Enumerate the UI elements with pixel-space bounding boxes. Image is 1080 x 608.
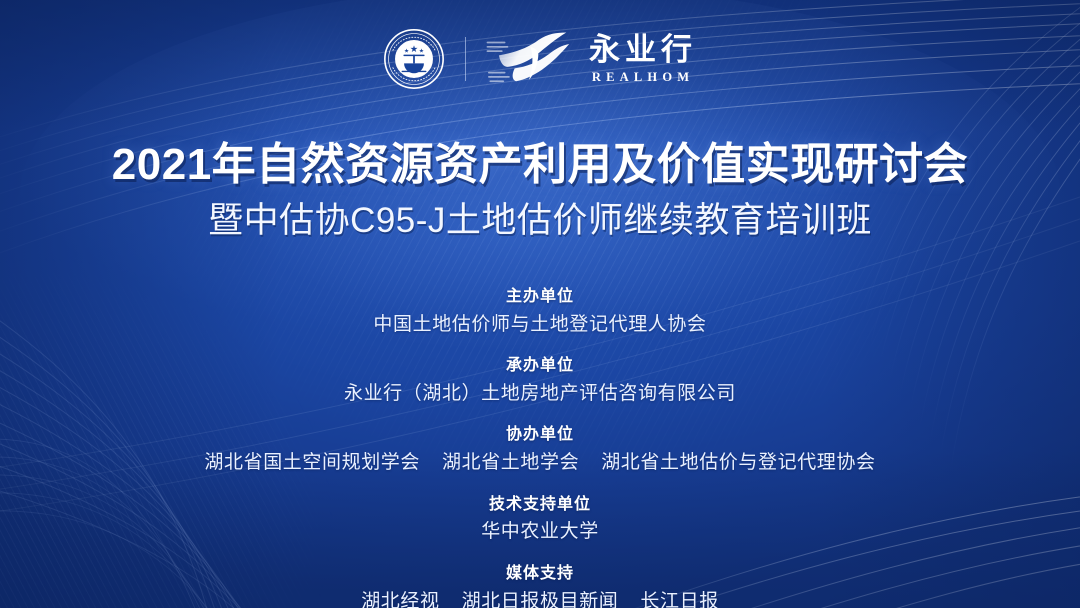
title-block: 2021年自然资源资产利用及价值实现研讨会 暨中估协C95-J土地估价师继续教育…: [0, 140, 1080, 242]
credit-label: 技术支持单位: [0, 494, 1080, 516]
conference-banner: 永业行 REALHOM 2021年自然资源资产利用及价值实现研讨会 暨中估协C9…: [0, 0, 1080, 608]
credit-entries: 永业行（湖北）土地房地产评估咨询有限公司: [0, 381, 1080, 407]
conference-subtitle: 暨中估协C95-J土地估价师继续教育培训班: [0, 201, 1080, 241]
credit-label: 主办单位: [0, 286, 1080, 308]
credit-section-technical-support: 技术支持单位华中农业大学: [0, 494, 1080, 545]
credit-label: 媒体支持: [0, 563, 1080, 585]
credit-entries: 湖北经视湖北日报极目新闻长江日报: [0, 589, 1080, 608]
credit-entries: 中国土地估价师与土地登记代理人协会: [0, 312, 1080, 338]
credit-entry: 长江日报: [640, 591, 718, 608]
credit-entry: 湖北省国土空间规划学会: [204, 452, 420, 473]
yh-monogram-icon: [486, 31, 572, 87]
credit-section-co-organizer: 协办单位湖北省国土空间规划学会湖北省土地学会湖北省土地估价与登记代理协会: [0, 424, 1080, 475]
conference-title: 2021年自然资源资产利用及价值实现研讨会: [0, 140, 1080, 189]
credit-entries: 湖北省国土空间规划学会湖北省土地学会湖北省土地估价与登记代理协会: [0, 450, 1080, 476]
realhom-logo: 永业行 REALHOM: [486, 31, 697, 87]
credit-entry: 湖北省土地学会: [442, 452, 579, 473]
logo-divider: [465, 37, 466, 81]
credit-entry: 华中农业大学: [481, 521, 599, 542]
credit-section-media-support: 媒体支持湖北经视湖北日报极目新闻长江日报: [0, 563, 1080, 608]
credit-entry: 湖北日报极目新闻: [462, 591, 619, 608]
credit-entries: 华中农业大学: [0, 519, 1080, 545]
credits-block: 主办单位中国土地估价师与土地登记代理人协会承办单位永业行（湖北）土地房地产评估咨…: [0, 286, 1080, 608]
credit-entry: 湖北经视: [361, 591, 439, 608]
credit-section-host: 主办单位中国土地估价师与土地登记代理人协会: [0, 286, 1080, 337]
credit-entry: 湖北省土地估价与登记代理协会: [601, 452, 875, 473]
credit-label: 协办单位: [0, 424, 1080, 446]
credit-label: 承办单位: [0, 355, 1080, 377]
brand-name-en: REALHOM: [587, 71, 695, 84]
credit-entry: 中国土地估价师与土地登记代理人协会: [373, 314, 706, 335]
china-land-appraisers-association-emblem-icon: [383, 28, 445, 90]
credit-entry: 永业行（湖北）土地房地产评估咨询有限公司: [344, 383, 736, 404]
credit-section-organizer: 承办单位永业行（湖北）土地房地产评估咨询有限公司: [0, 355, 1080, 406]
logo-bar: 永业行 REALHOM: [0, 28, 1080, 90]
brand-name-cn: 永业行: [584, 34, 697, 65]
